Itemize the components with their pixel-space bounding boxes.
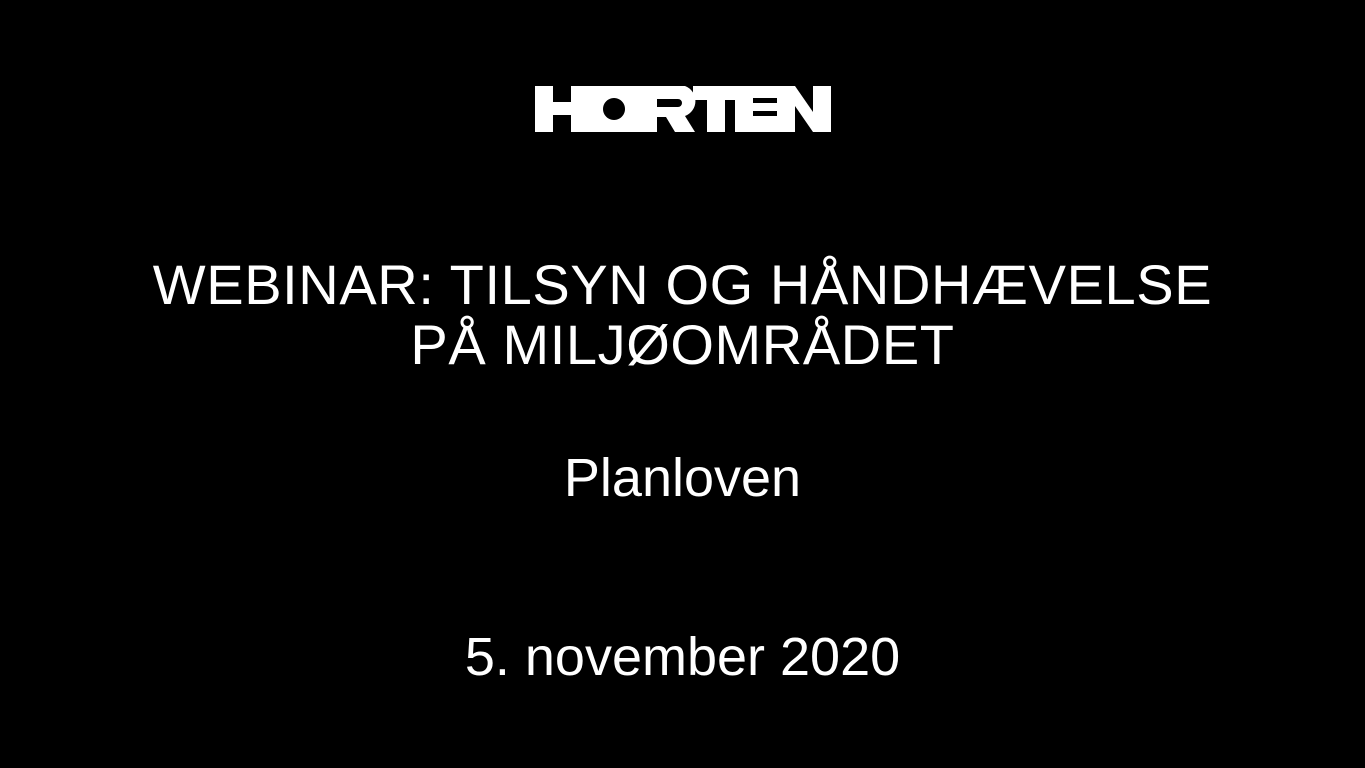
horten-logo-icon: HORTEN xyxy=(535,84,831,134)
title-slide: HORTEN WEBINAR: TILSYN OG HÅNDHÆVELSE PÅ… xyxy=(0,0,1365,768)
page-title: WEBINAR: TILSYN OG HÅNDHÆVELSE PÅ MILJØO… xyxy=(0,255,1365,375)
slide-date: 5. november 2020 xyxy=(0,626,1365,688)
slide-subtitle: Planloven xyxy=(0,447,1365,509)
title-line-2: PÅ MILJØOMRÅDET xyxy=(0,315,1365,375)
title-line-1: WEBINAR: TILSYN OG HÅNDHÆVELSE xyxy=(0,255,1365,315)
horten-logo: HORTEN xyxy=(0,83,1365,135)
